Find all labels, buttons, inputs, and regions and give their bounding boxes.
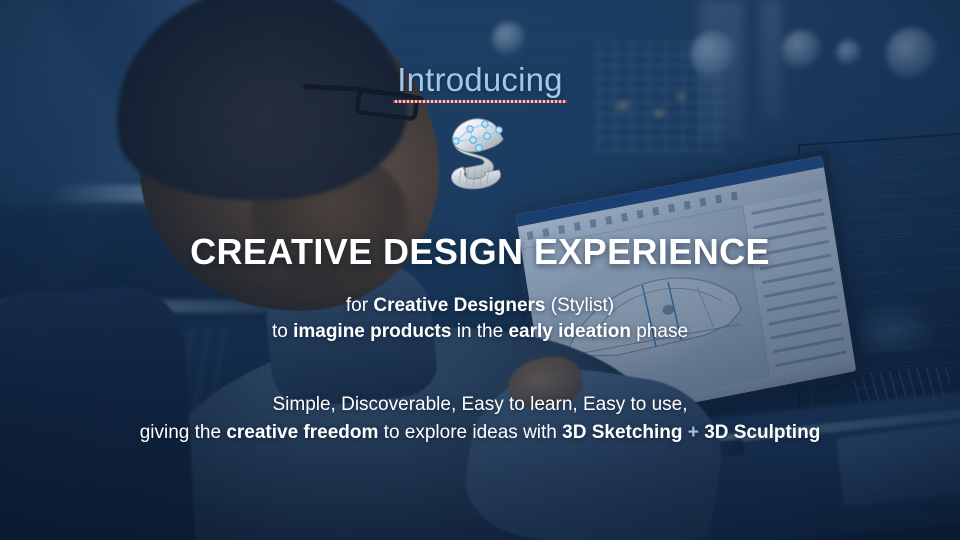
audience-line-1-run-2: (Stylist) bbox=[546, 295, 615, 316]
value-line-2-run-0: giving the bbox=[140, 422, 227, 443]
slide-content: Introducing bbox=[0, 0, 960, 540]
value-line-1-run-0: Simple, Discoverable, Easy to learn, Eas… bbox=[272, 394, 687, 415]
eyebrow-text: Introducing bbox=[397, 60, 562, 100]
page-title: CREATIVE DESIGN EXPERIENCE bbox=[0, 230, 960, 274]
audience-line-2-run-3: early ideation bbox=[508, 321, 631, 342]
value-text-block: Simple, Discoverable, Easy to learn, Eas… bbox=[0, 391, 960, 447]
value-line-2-run-5: 3D Sculpting bbox=[704, 422, 820, 443]
presentation-slide: Introducing bbox=[0, 0, 960, 540]
value-line-2-run-4: + bbox=[683, 422, 705, 443]
eyebrow-row: Introducing bbox=[0, 60, 960, 100]
value-line-2-run-1: creative freedom bbox=[226, 422, 378, 443]
value-line-2-run-2: to explore ideas with bbox=[378, 422, 562, 443]
value-line-2-run-3: 3D Sketching bbox=[562, 422, 682, 443]
audience-line-2-run-0: to bbox=[272, 321, 293, 342]
logo-row bbox=[0, 112, 960, 199]
audience-line-1-run-0: for bbox=[346, 295, 373, 316]
audience-line-2: to imagine products in the early ideatio… bbox=[0, 319, 960, 345]
eyebrow-label: Introducing bbox=[397, 61, 562, 98]
audience-line-1: for Creative Designers (Stylist) bbox=[0, 293, 960, 319]
audience-line-2-run-2: in the bbox=[451, 321, 508, 342]
stylist-s-logo-icon bbox=[437, 112, 523, 194]
value-line-2: giving the creative freedom to explore i… bbox=[0, 419, 960, 447]
audience-text-block: for Creative Designers (Stylist) to imag… bbox=[0, 293, 960, 345]
audience-line-1-run-1: Creative Designers bbox=[373, 295, 545, 316]
eyebrow-underline bbox=[393, 100, 566, 103]
value-line-1: Simple, Discoverable, Easy to learn, Eas… bbox=[0, 391, 960, 419]
audience-line-2-run-4: phase bbox=[631, 321, 688, 342]
audience-line-2-run-1: imagine products bbox=[293, 321, 451, 342]
